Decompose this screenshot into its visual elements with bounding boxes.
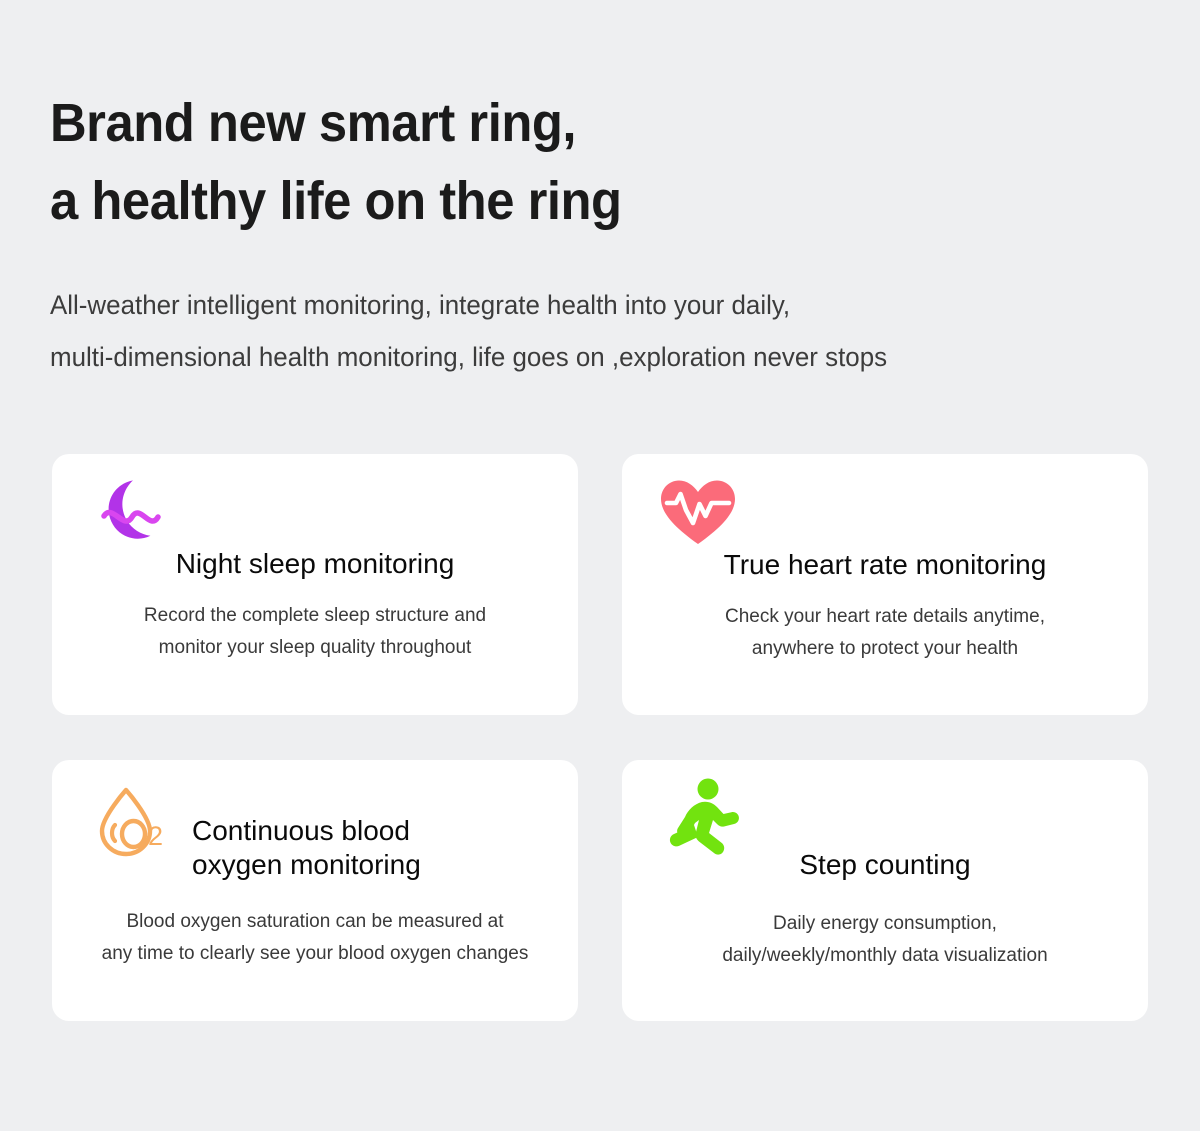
moon-sleep-icon [86, 476, 178, 546]
card-title: Step counting [622, 848, 1148, 882]
feature-card-grid: Night sleep monitoring Record the comple… [52, 454, 1148, 1021]
card-description: Record the complete sleep structure and … [52, 600, 578, 664]
feature-card-step-counting[interactable]: Step counting Daily energy consumption, … [622, 760, 1148, 1021]
card-title: Continuous blood oxygen monitoring [192, 814, 421, 882]
card-description: Blood oxygen saturation can be measured … [52, 906, 578, 970]
page-subtitle: All-weather intelligent monitoring, inte… [50, 241, 1106, 384]
feature-card-heart-rate[interactable]: True heart rate monitoring Check your he… [622, 454, 1148, 715]
page-title: Brand new smart ring, a healthy life on … [50, 84, 1084, 241]
heart-rate-icon [659, 478, 737, 548]
card-title: Night sleep monitoring [52, 547, 578, 581]
promo-page: Brand new smart ring, a healthy life on … [0, 0, 1200, 1131]
card-title: True heart rate monitoring [622, 548, 1148, 582]
card-description: Check your heart rate details anytime, a… [622, 601, 1148, 665]
feature-card-night-sleep[interactable]: Night sleep monitoring Record the comple… [52, 454, 578, 715]
running-person-icon [664, 778, 742, 858]
header: Brand new smart ring, a healthy life on … [50, 84, 1150, 384]
feature-card-blood-oxygen[interactable]: 2 Continuous blood oxygen monitoring Blo… [52, 760, 578, 1021]
blood-oxygen-droplet-icon: 2 [86, 784, 172, 860]
blood-oxygen-icon-label: 2 [148, 821, 163, 851]
card-description: Daily energy consumption, daily/weekly/m… [622, 908, 1148, 972]
